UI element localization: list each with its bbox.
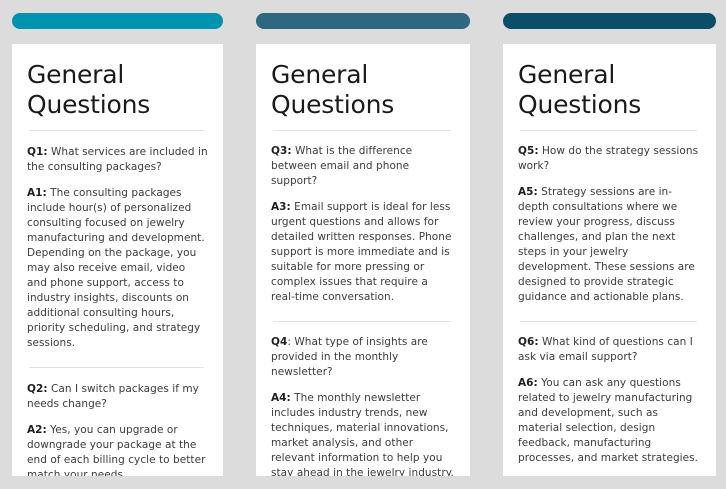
question-label: Q4 (271, 336, 287, 348)
answer-label: A4: (271, 392, 291, 404)
answer-text: A1: The consulting packages include hour… (27, 186, 208, 351)
question-body: How do the strategy sessions work? (518, 145, 698, 172)
qa-block: Q1: What services are included in the co… (27, 145, 208, 351)
qa-block: Q6: What kind of questions can I ask via… (518, 335, 701, 466)
accent-bar-column-3 (503, 13, 716, 29)
question-body: Can I switch packages if my needs change… (27, 383, 199, 410)
question-body: What kind of questions can I ask via ema… (518, 336, 693, 363)
accent-bar-column-2 (256, 13, 470, 29)
question-body: What is the difference between email and… (271, 145, 412, 187)
qa-divider (273, 321, 451, 322)
answer-text: A3: Email support is ideal for less urge… (271, 200, 455, 305)
answer-text: A4: The monthly newsletter includes indu… (271, 391, 455, 476)
page-title: General Questions (518, 60, 701, 119)
faq-card-column-1: General Questions Q1: What services are … (12, 44, 223, 476)
qa-block: Q4: What type of insights are provided i… (271, 335, 455, 476)
question-text: Q4: What type of insights are provided i… (271, 335, 455, 380)
page-title: General Questions (271, 60, 455, 119)
answer-body: You can ask any questions related to jew… (518, 377, 698, 464)
question-label: Q3: (271, 145, 292, 157)
question-text: Q6: What kind of questions can I ask via… (518, 335, 701, 365)
heading-divider (29, 130, 204, 131)
answer-body: Email support is ideal for less urgent q… (271, 201, 452, 303)
page-title: General Questions (27, 60, 208, 119)
question-label: Q5: (518, 145, 539, 157)
answer-text: A2: Yes, you can upgrade or downgrade yo… (27, 423, 208, 476)
answer-label: A3: (271, 201, 291, 213)
faq-card-column-2: General Questions Q3: What is the differ… (256, 44, 470, 476)
heading-divider (273, 130, 451, 131)
answer-body: The consulting packages include hour(s) … (27, 187, 205, 349)
answer-body: Strategy sessions are in-depth consultat… (518, 186, 695, 303)
answer-body: The monthly newsletter includes industry… (271, 392, 454, 476)
heading-divider (520, 130, 697, 131)
answer-body: Yes, you can upgrade or downgrade your p… (27, 424, 205, 476)
question-body: What services are included in the consul… (27, 146, 208, 173)
answer-label: A2: (27, 424, 47, 436)
accent-bar-column-1 (12, 13, 223, 29)
question-text: Q5: How do the strategy sessions work? (518, 144, 701, 174)
answer-text: A6: You can ask any questions related to… (518, 376, 701, 466)
faq-board: General Questions Q1: What services are … (0, 0, 726, 489)
question-label: Q2: (27, 383, 48, 395)
qa-block: Q2: Can I switch packages if my needs ch… (27, 382, 208, 476)
answer-label: A6: (518, 377, 538, 389)
question-text: Q2: Can I switch packages if my needs ch… (27, 382, 208, 412)
qa-divider (29, 367, 204, 368)
answer-text: A5: Strategy sessions are in-depth consu… (518, 185, 701, 305)
question-label: Q6: (518, 336, 539, 348)
faq-card-column-3: General Questions Q5: How do the strateg… (503, 44, 716, 476)
qa-divider (520, 321, 697, 322)
question-text: Q3: What is the difference between email… (271, 144, 455, 189)
question-label: Q1: (27, 146, 48, 158)
answer-label: A5: (518, 186, 538, 198)
qa-block: Q3: What is the difference between email… (271, 144, 455, 305)
question-body: : What type of insights are provided in … (271, 336, 428, 378)
qa-block: Q5: How do the strategy sessions work? A… (518, 144, 701, 305)
question-text: Q1: What services are included in the co… (27, 145, 208, 175)
answer-label: A1: (27, 187, 47, 199)
